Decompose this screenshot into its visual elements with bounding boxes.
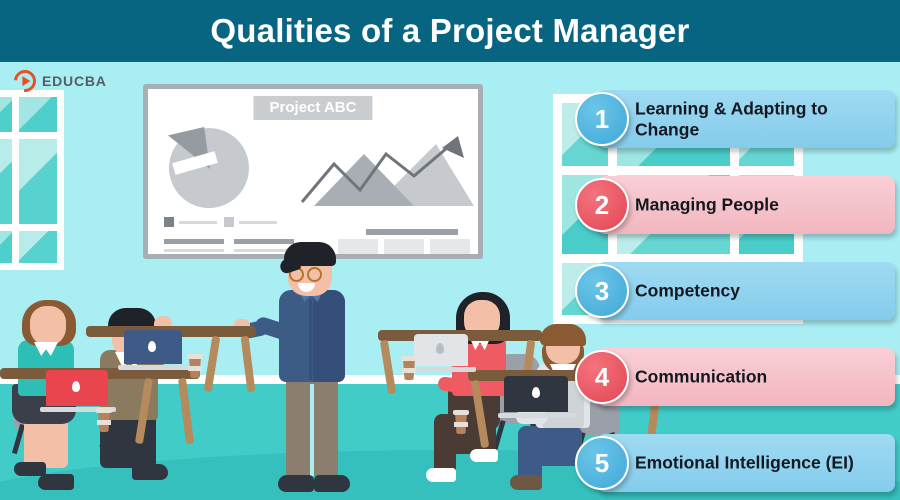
page-title: Qualities of a Project Manager bbox=[210, 12, 689, 50]
list-item-label: Learning & Adapting to Change bbox=[635, 98, 887, 139]
legend-swatch bbox=[224, 217, 234, 227]
window-left bbox=[0, 90, 64, 270]
coffee-cup bbox=[95, 404, 113, 432]
list-item-number-badge: 4 bbox=[575, 350, 629, 404]
legend-swatch bbox=[164, 217, 174, 227]
coffee-cup bbox=[186, 350, 204, 378]
window-pane bbox=[0, 139, 12, 224]
list-item-label: Competency bbox=[635, 281, 887, 302]
text-placeholder-line bbox=[164, 249, 224, 252]
coffee-cup bbox=[400, 352, 418, 380]
list-item-label: Emotional Intelligence (EI) bbox=[635, 453, 887, 474]
window-pane bbox=[19, 97, 57, 132]
laptop-blue bbox=[118, 328, 184, 370]
standing-presenter-with-glasses bbox=[258, 232, 378, 492]
window-pane bbox=[0, 231, 12, 263]
list-item-number-badge: 3 bbox=[575, 264, 629, 318]
text-placeholder-line bbox=[164, 239, 224, 244]
whiteboard-title: Project ABC bbox=[254, 96, 373, 120]
brand-name: EDUCBA bbox=[42, 73, 107, 89]
list-item-number-badge: 1 bbox=[575, 92, 629, 146]
laptop-dark bbox=[498, 374, 570, 418]
bar-placeholder bbox=[366, 229, 458, 235]
list-item-number-badge: 5 bbox=[575, 436, 629, 490]
brand-logo[interactable]: EDUCBA bbox=[14, 70, 107, 92]
legend-line bbox=[239, 221, 277, 224]
trend-arrow-icon bbox=[298, 132, 468, 206]
box-placeholder bbox=[384, 239, 424, 254]
legend-line bbox=[179, 221, 217, 224]
educba-play-circle-icon bbox=[10, 66, 41, 97]
box-placeholder bbox=[430, 239, 470, 254]
window-pane bbox=[19, 139, 57, 224]
header-bar: Qualities of a Project Manager bbox=[0, 0, 900, 62]
list-item-label: Communication bbox=[635, 367, 887, 388]
window-pane bbox=[19, 231, 57, 263]
coffee-cup bbox=[452, 406, 470, 434]
window-pane bbox=[0, 97, 12, 132]
list-item-number-badge: 2 bbox=[575, 178, 629, 232]
list-item-label: Managing People bbox=[635, 195, 887, 216]
infographic-root: Project ABC bbox=[0, 0, 900, 500]
